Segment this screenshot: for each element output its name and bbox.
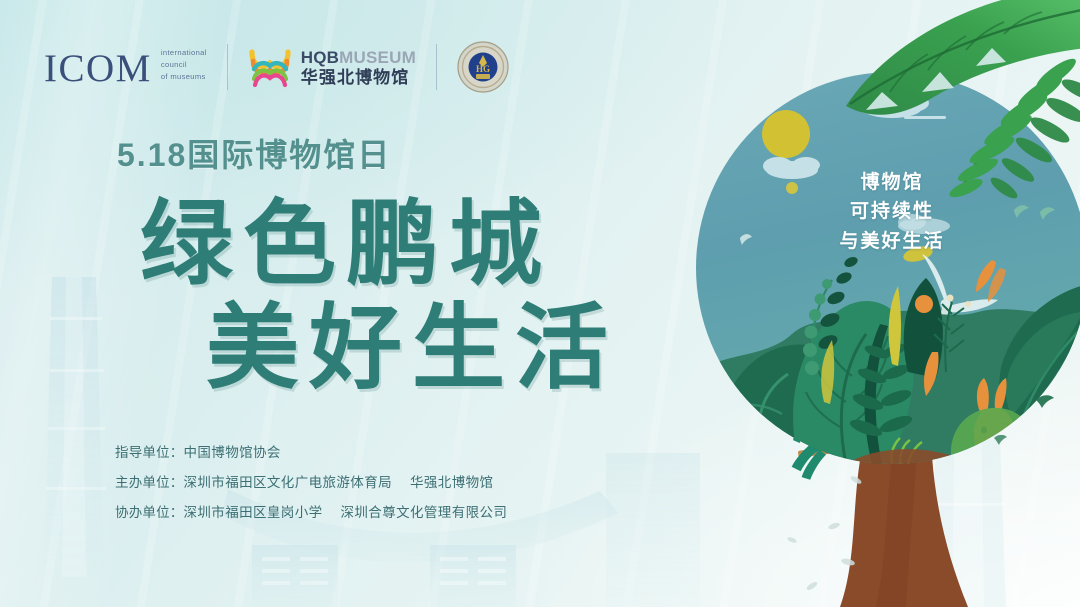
icom-wordmark: ICOM <box>44 50 152 87</box>
logo-divider-1 <box>227 44 228 90</box>
school-seal-icon: HG <box>457 41 509 93</box>
icom-tagline: international council of museums <box>161 47 207 88</box>
credit-label: 指导单位： <box>115 445 184 460</box>
credit-org: 深圳市福田区皇岗小学 <box>184 505 323 520</box>
logo-bar: ICOM international council of museums HQ… <box>44 38 509 96</box>
fern-frond-icon <box>884 56 1080 216</box>
credit-org: 华强北博物馆 <box>410 475 493 490</box>
page-kicker: 5.18国际博物馆日 <box>117 130 391 176</box>
headline-line-2: 美好生活 <box>206 300 618 398</box>
credit-org: 中国博物馆协会 <box>184 445 281 460</box>
credit-org: 深圳合尊文化管理有限公司 <box>341 505 508 520</box>
credit-line: 主办单位：深圳市福田区文化广电旅游体育局华强北博物馆 <box>115 471 507 491</box>
credit-line: 协办单位：深圳市福田区皇岗小学深圳合尊文化管理有限公司 <box>115 501 507 521</box>
headline-line-1: 绿色鹏城 <box>140 196 552 294</box>
hqb-chinese-name: 华强北博物馆 <box>301 69 416 86</box>
credit-label: 主办单位： <box>115 475 184 490</box>
credit-label: 协办单位： <box>115 505 184 520</box>
hqb-en-dim: MUSEUM <box>339 48 416 67</box>
logo-divider-2 <box>436 44 437 90</box>
credit-org: 深圳市福田区文化广电旅游体育局 <box>184 475 393 490</box>
credits-block: 指导单位：中国博物馆协会 主办单位：深圳市福田区文化广电旅游体育局华强北博物馆 … <box>115 441 507 521</box>
credit-line: 指导单位：中国博物馆协会 <box>115 441 507 461</box>
hqb-en-strong: HQB <box>301 48 339 67</box>
hqb-museum-logo: HQBMUSEUM 华强北博物馆 <box>248 46 416 88</box>
hqb-rainbow-icon <box>248 46 292 88</box>
svg-text:HG: HG <box>476 64 490 74</box>
icom-tagline-line-1: international <box>161 47 207 59</box>
circle-caption-line-3: 与美好生活 <box>696 227 1080 256</box>
icom-logo: ICOM international council of museums <box>44 47 207 88</box>
hqb-english-name: HQBMUSEUM <box>301 49 416 66</box>
icom-tagline-line-3: of museums <box>161 71 207 83</box>
icom-tagline-line-2: council <box>161 59 207 71</box>
poster-root: ICOM international council of museums HQ… <box>0 0 1080 607</box>
